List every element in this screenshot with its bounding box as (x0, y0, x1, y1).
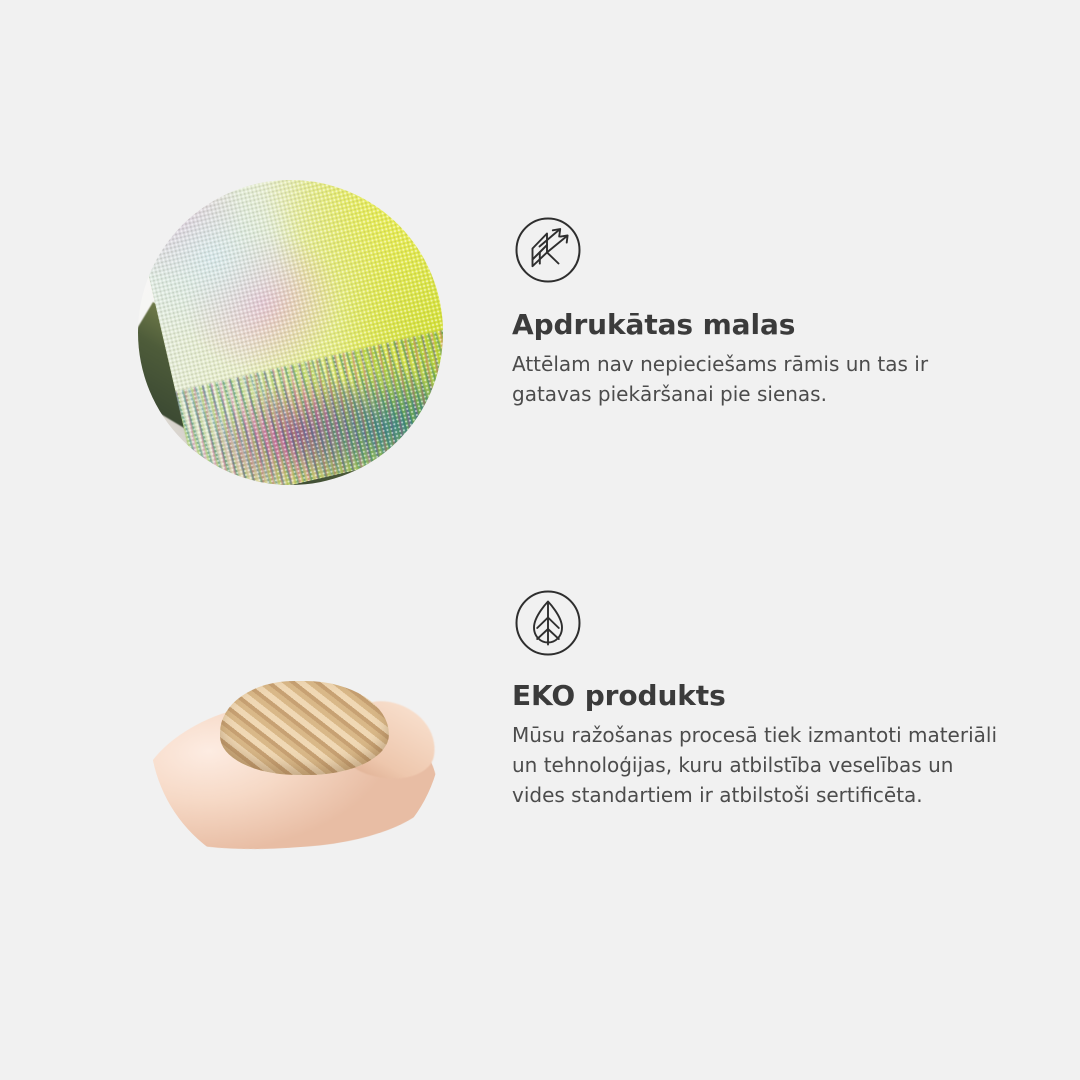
feature-eco-product-content: EKO produkts Mūsu ražošanas procesā tiek… (512, 565, 1017, 810)
eco-photo-backdrop (150, 585, 442, 877)
feature-body: Attēlam nav nepieciešams rāmis un tas ir… (512, 349, 1004, 409)
feature-title: EKO produkts (512, 679, 1017, 712)
canvas-print-wrapped-edge-photo (138, 180, 443, 485)
leaf-icon (514, 589, 582, 657)
feature-title: Apdrukātas malas (512, 308, 1017, 341)
eco-wood-chips (220, 681, 389, 774)
canvas-photo-backdrop (138, 180, 443, 485)
hands-holding-wood-chips-photo (150, 585, 442, 877)
feature-eco-product: EKO produkts Mūsu ražošanas procesā tiek… (0, 565, 1080, 905)
product-features-panel: Apdrukātas malas Attēlam nav nepieciešam… (0, 0, 1080, 1080)
feature-printed-edges-content: Apdrukātas malas Attēlam nav nepieciešam… (512, 170, 1017, 409)
printed-edges-icon (514, 216, 582, 284)
feature-printed-edges: Apdrukātas malas Attēlam nav nepieciešam… (0, 170, 1080, 510)
feature-body: Mūsu ražošanas procesā tiek izmantoti ma… (512, 720, 1004, 810)
